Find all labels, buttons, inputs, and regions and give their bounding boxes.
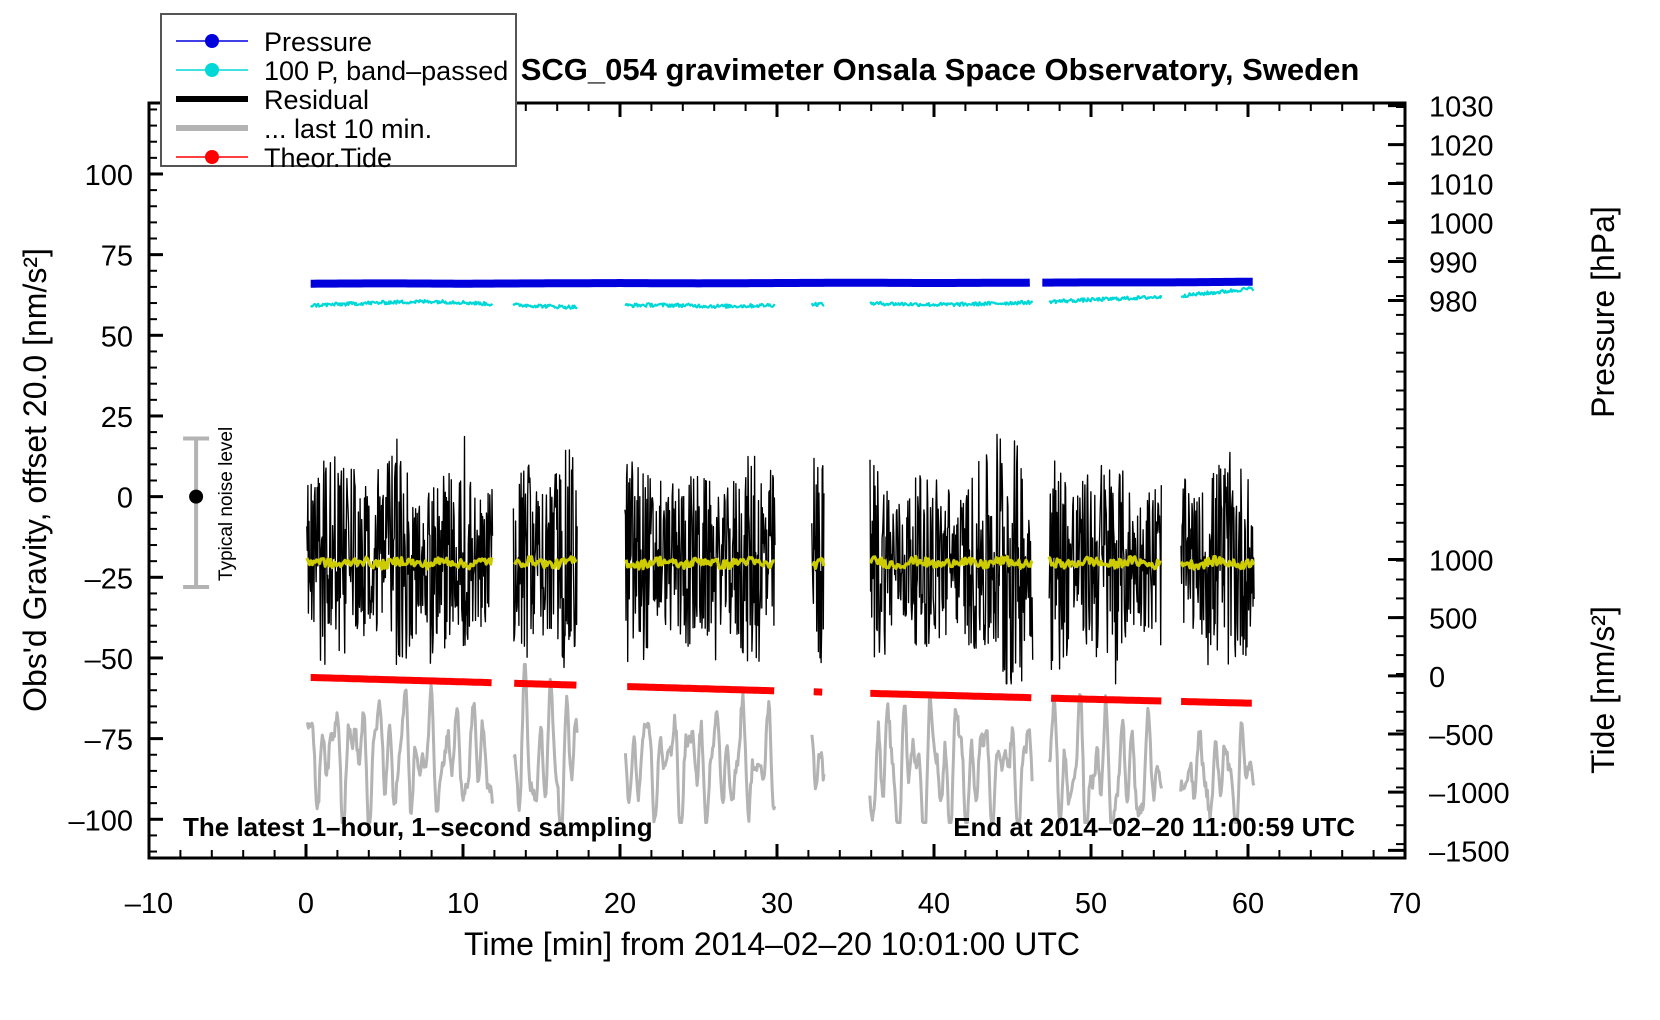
- svg-text:–500: –500: [1429, 720, 1494, 752]
- legend-item-label: ... last 10 min.: [264, 114, 432, 144]
- svg-text:–75: –75: [85, 725, 133, 757]
- legend[interactable]: Pressure100 P, band–passedResidual... la…: [161, 14, 516, 173]
- svg-text:1020: 1020: [1429, 131, 1494, 163]
- pressure-trace: [311, 283, 1030, 284]
- y-axis-right-pressure-title: Pressure [hPa]: [1585, 206, 1621, 418]
- sampling-note: The latest 1–hour, 1–second sampling: [183, 812, 653, 842]
- chart-title: SCG_054 gravimeter Onsala Space Observat…: [521, 52, 1360, 87]
- theor-tide-trace: [870, 693, 1031, 697]
- svg-text:–50: –50: [85, 644, 133, 676]
- svg-text:0: 0: [1429, 662, 1445, 694]
- svg-text:25: 25: [101, 402, 133, 434]
- svg-text:1000: 1000: [1429, 209, 1494, 241]
- svg-text:30: 30: [761, 888, 793, 920]
- svg-text:1030: 1030: [1429, 92, 1494, 124]
- legend-item-label: 100 P, band–passed: [264, 56, 508, 86]
- noise-bar-dot: [189, 490, 203, 504]
- gravimeter-figure: Typical noise level –10010203040506070 –…: [0, 0, 1660, 1020]
- legend-swatch-dot: [205, 150, 219, 164]
- svg-text:75: 75: [101, 241, 133, 273]
- svg-text:–25: –25: [85, 563, 133, 595]
- svg-text:60: 60: [1232, 888, 1264, 920]
- svg-text:40: 40: [918, 888, 950, 920]
- y-axis-right-tide-title: Tide [nm/s²]: [1585, 606, 1621, 774]
- theor-tide-trace: [1051, 698, 1161, 701]
- svg-text:10: 10: [447, 888, 479, 920]
- svg-text:–10: –10: [125, 888, 173, 920]
- svg-text:1010: 1010: [1429, 170, 1494, 202]
- svg-text:–100: –100: [68, 805, 133, 837]
- end-time-note: End at 2014–02–20 11:00:59 UTC: [953, 812, 1355, 842]
- gravimeter-plot-page: Typical noise level –10010203040506070 –…: [0, 0, 1660, 1020]
- theor-tide-trace: [514, 683, 576, 685]
- svg-text:20: 20: [604, 888, 636, 920]
- theor-tide-trace: [1181, 702, 1252, 704]
- x-axis-title: Time [min] from 2014–02–20 10:01:00 UTC: [464, 926, 1080, 962]
- svg-text:980: 980: [1429, 287, 1477, 319]
- y-axis-left-title: Obs'd Gravity, offset 20.0 [nm/s²]: [17, 248, 53, 712]
- legend-item-label: Residual: [264, 85, 369, 115]
- svg-text:100: 100: [85, 160, 133, 192]
- svg-text:500: 500: [1429, 604, 1477, 636]
- legend-item-label: Pressure: [264, 27, 372, 57]
- noise-bar-label: Typical noise level: [216, 427, 237, 581]
- legend-swatch-dot: [205, 63, 219, 77]
- series-pressure: [311, 282, 1253, 284]
- legend-item-label: Theor.Tide: [264, 143, 392, 173]
- svg-text:–1000: –1000: [1429, 778, 1510, 810]
- svg-text:0: 0: [298, 888, 314, 920]
- theor-tide-trace: [627, 687, 774, 691]
- svg-text:50: 50: [101, 321, 133, 353]
- svg-text:0: 0: [117, 483, 133, 515]
- svg-text:70: 70: [1389, 888, 1421, 920]
- legend-swatch-dot: [205, 34, 219, 48]
- pressure-trace: [1042, 282, 1252, 283]
- svg-text:1000: 1000: [1429, 545, 1494, 577]
- svg-text:50: 50: [1075, 888, 1107, 920]
- svg-text:–1500: –1500: [1429, 836, 1510, 868]
- svg-text:990: 990: [1429, 248, 1477, 280]
